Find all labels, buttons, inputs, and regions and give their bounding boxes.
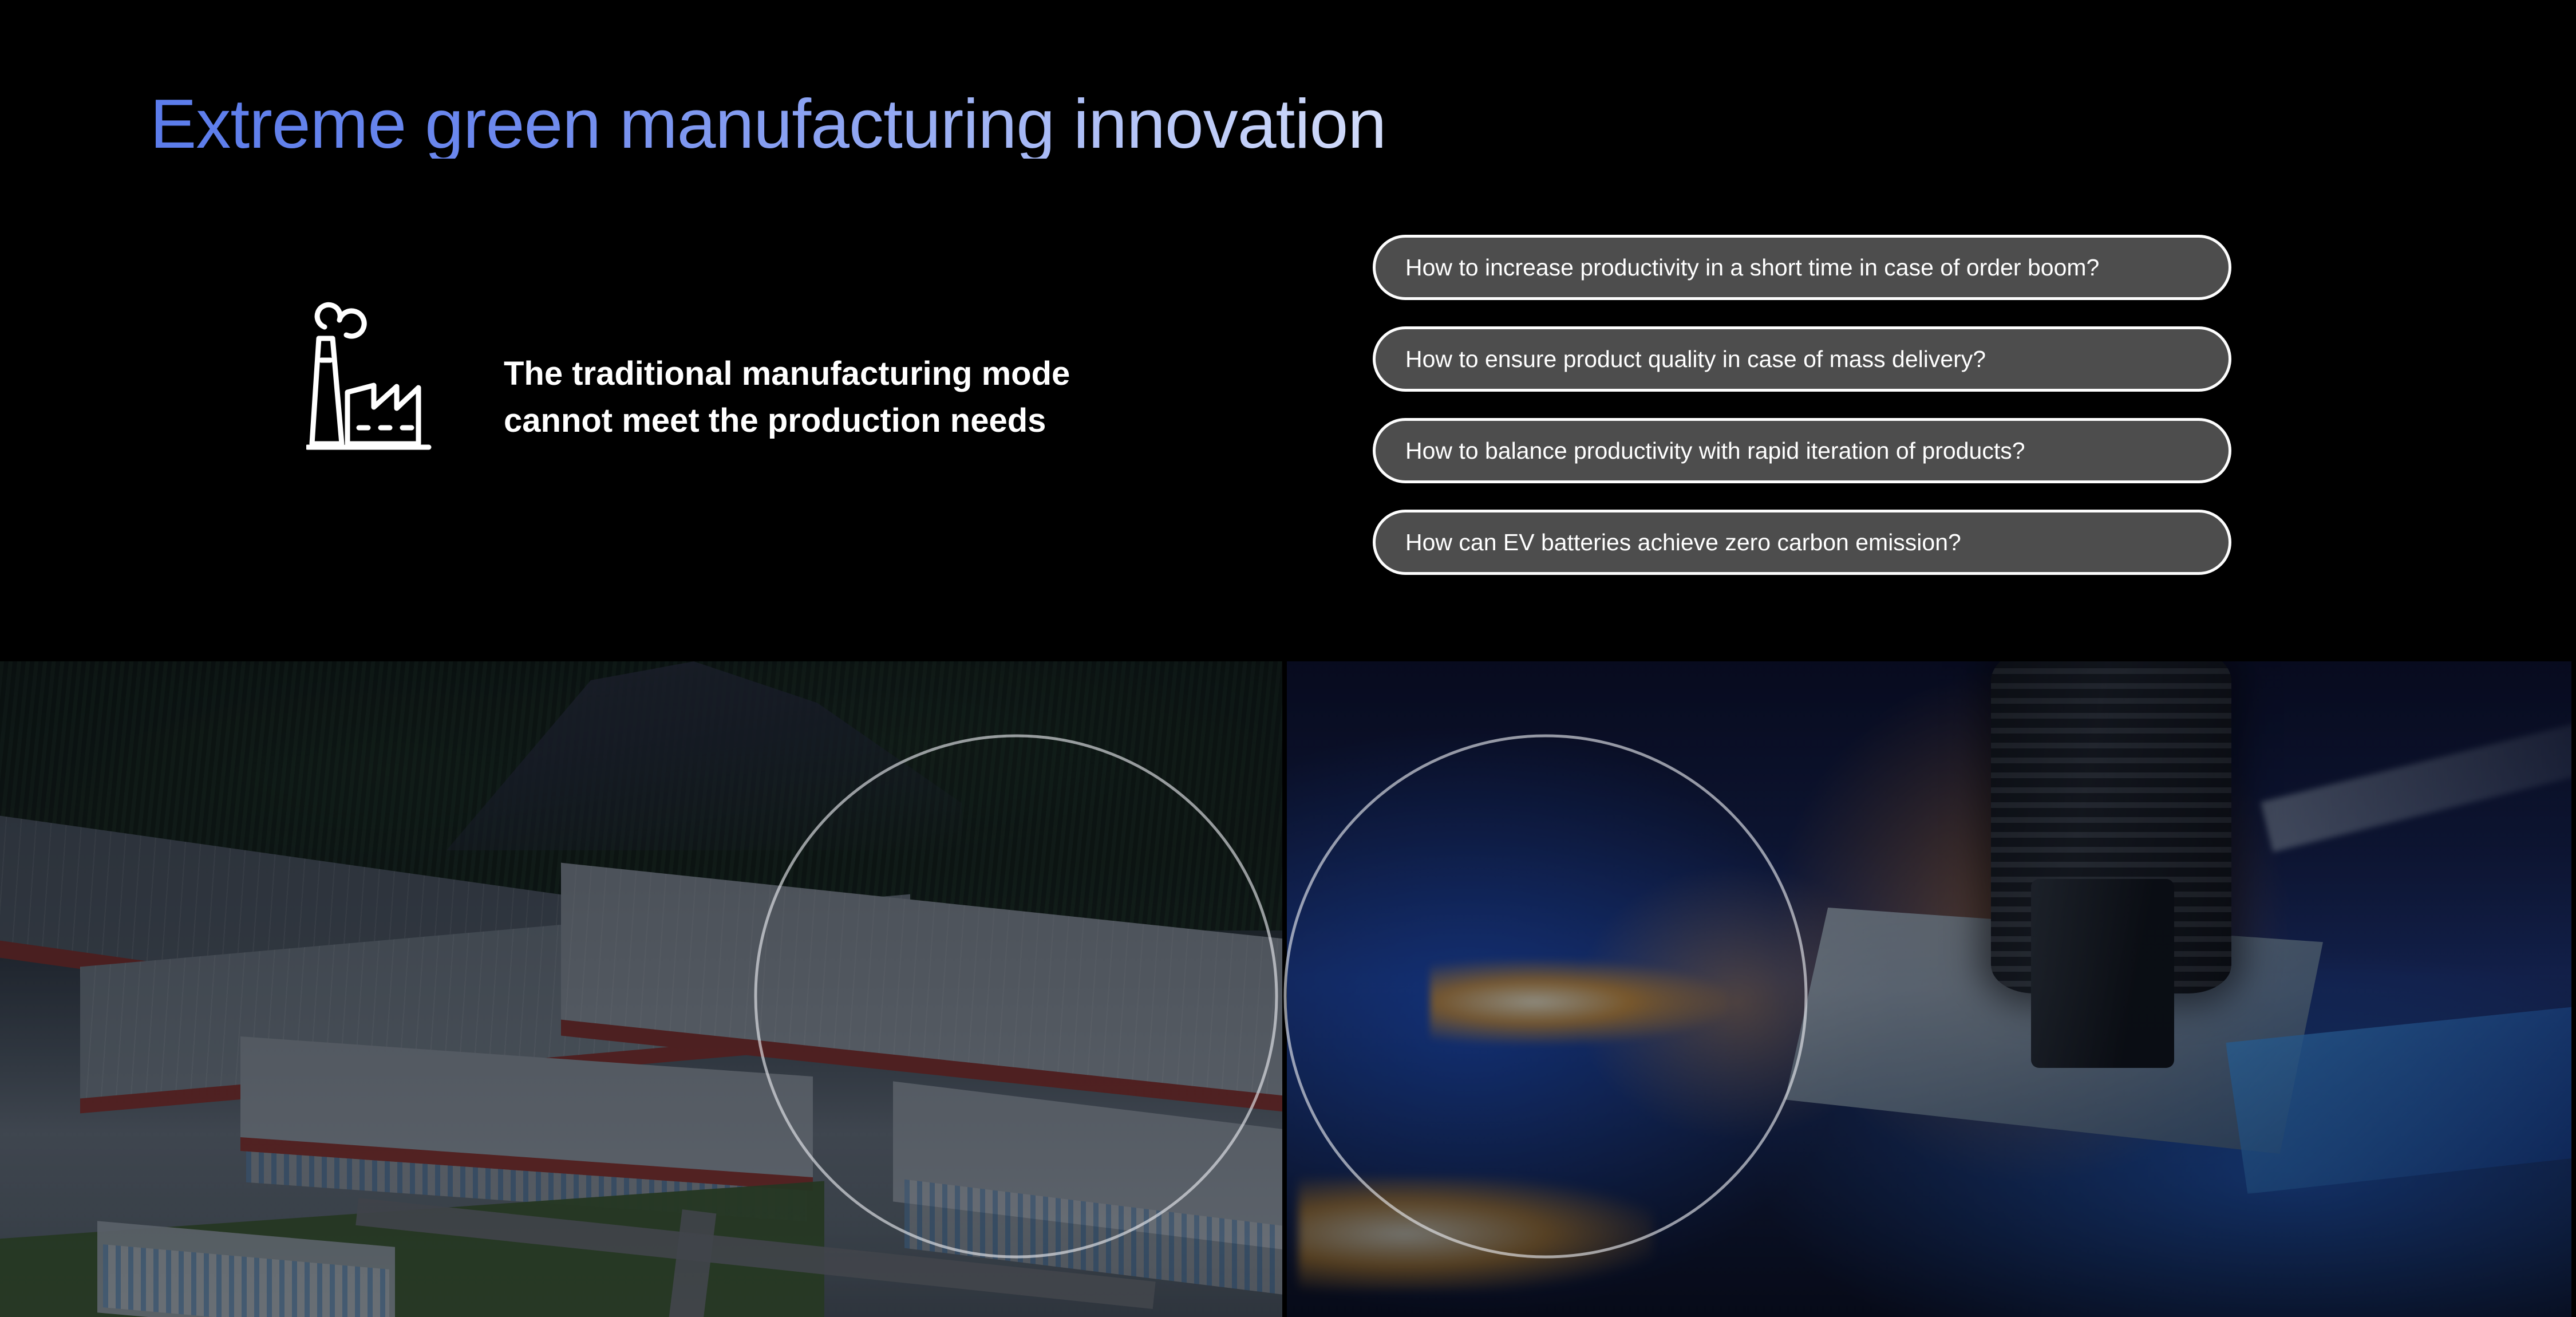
- question-pill-label: How to ensure product quality in case of…: [1376, 346, 1986, 373]
- question-pill[interactable]: How to increase productivity in a short …: [1373, 235, 2231, 300]
- question-pill[interactable]: How can EV batteries achieve zero carbon…: [1373, 510, 2231, 575]
- top-black-section: Extreme green manufacturing innovation T…: [0, 0, 2576, 661]
- photo-darkening-overlay: [1287, 661, 2571, 1317]
- slide-canvas: Extreme green manufacturing innovation T…: [0, 0, 2576, 1317]
- question-pill[interactable]: How to ensure product quality in case of…: [1373, 326, 2231, 392]
- question-pill-label: How to increase productivity in a short …: [1376, 254, 2099, 281]
- factory-icon: [306, 301, 432, 452]
- statement-line-2: cannot meet the production needs: [504, 397, 1305, 444]
- photo-darkening-overlay: [0, 661, 1282, 1317]
- photo-section: Supply chain Carbon reduction management…: [0, 661, 2576, 1317]
- laser-welding-photo: [1287, 661, 2571, 1317]
- pane-divider: [1282, 661, 1287, 1317]
- traditional-mode-statement: The traditional manufacturing mode canno…: [504, 350, 1305, 445]
- question-pill-list: How to increase productivity in a short …: [1373, 235, 2231, 601]
- question-pill[interactable]: How to balance productivity with rapid i…: [1373, 418, 2231, 483]
- question-pill-label: How to balance productivity with rapid i…: [1376, 437, 2025, 464]
- question-pill-label: How can EV batteries achieve zero carbon…: [1376, 529, 1961, 556]
- page-title: Extreme green manufacturing innovation: [150, 89, 1386, 159]
- aerial-factory-photo: [0, 661, 1282, 1317]
- statement-line-1: The traditional manufacturing mode: [504, 350, 1305, 397]
